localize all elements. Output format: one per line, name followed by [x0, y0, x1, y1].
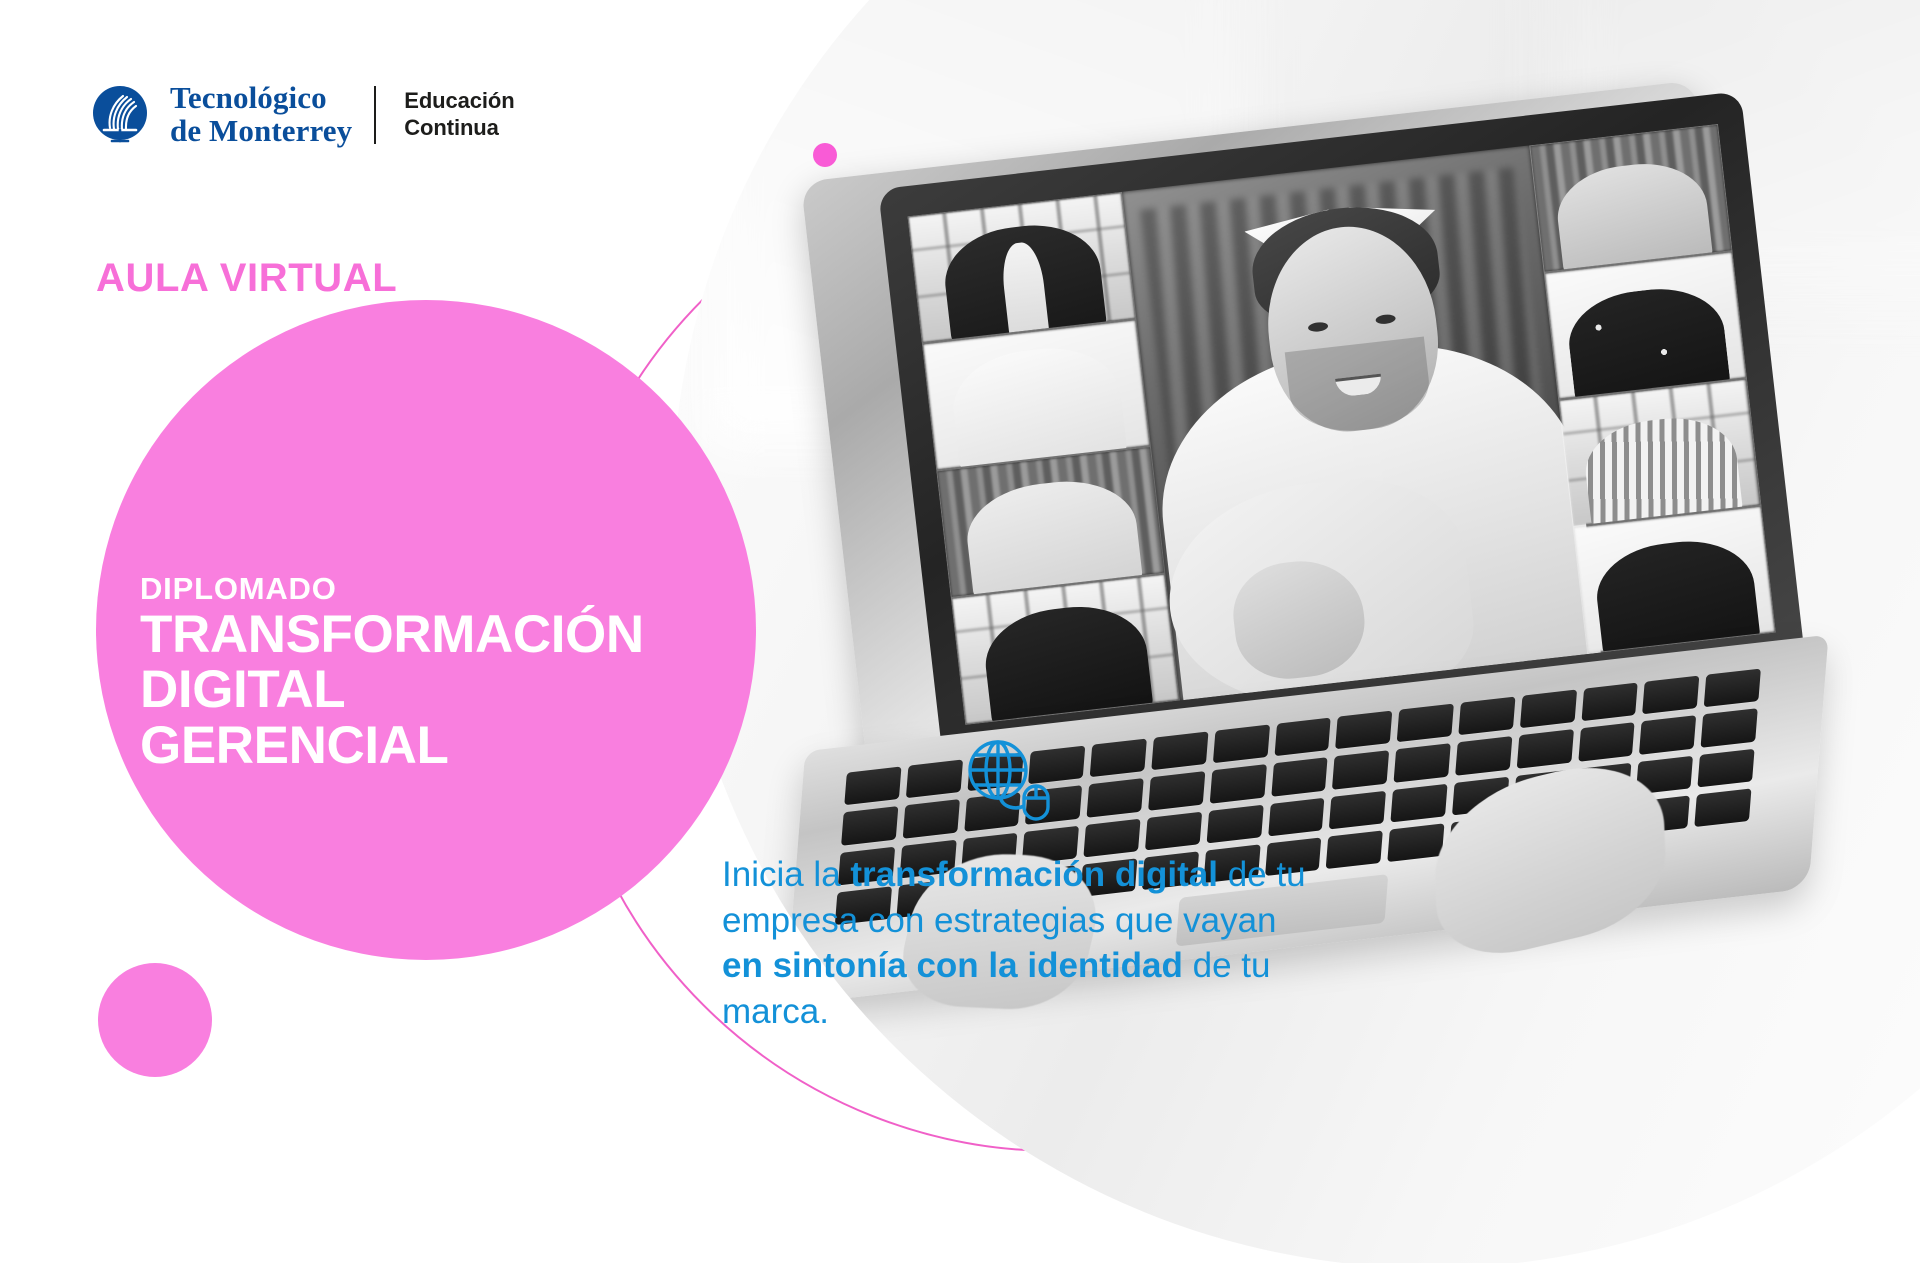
- logo-unit: Educación Continua: [404, 88, 514, 142]
- participant-tile: [1529, 124, 1732, 273]
- tec-flame-icon: [88, 83, 152, 147]
- promo-text-bold-2: en sintonía con la: [722, 946, 1018, 985]
- participant-tile: [1558, 378, 1761, 527]
- main-speaker-tile: [1122, 145, 1587, 700]
- ring-dot: [813, 143, 837, 167]
- video-call-grid: [907, 124, 1776, 725]
- eyebrow-label: AULA VIRTUAL: [96, 256, 397, 301]
- course-title-line-1: TRANSFORMACIÓN: [140, 607, 644, 663]
- promo-copy: Inicia la transformación digital de tu e…: [722, 852, 1322, 1034]
- banner-canvas: Tecnológico de Monterrey Educación Conti…: [0, 0, 1920, 1263]
- logo-lockup: Tecnológico de Monterrey Educación Conti…: [88, 82, 515, 148]
- promo-text-plain-3: que vayan: [1115, 901, 1277, 940]
- participant-tile: [922, 319, 1151, 471]
- promo-text-bold-1: transformación digital: [850, 855, 1218, 894]
- hero-photo: [672, 0, 1920, 1263]
- globe-mouse-icon: [962, 736, 1058, 822]
- course-title-line-2: DIGITAL: [140, 662, 644, 718]
- promo-text-plain-1: Inicia la: [722, 855, 850, 894]
- promo-text-bold-3: identidad: [1027, 946, 1183, 985]
- participant-tile: [1573, 505, 1776, 654]
- participant-tile: [1544, 251, 1747, 400]
- logo-institution: Tecnológico de Monterrey: [170, 82, 352, 148]
- logo-divider: [374, 86, 376, 144]
- participant-tile: [951, 573, 1180, 725]
- course-title-line-3: GERENCIAL: [140, 718, 644, 774]
- participant-tile: [907, 192, 1136, 344]
- course-title: DIPLOMADO TRANSFORMACIÓN DIGITAL GERENCI…: [140, 572, 644, 774]
- accent-circle-small: [98, 963, 212, 1077]
- course-kicker: DIPLOMADO: [140, 572, 644, 607]
- participant-tile: [936, 446, 1165, 598]
